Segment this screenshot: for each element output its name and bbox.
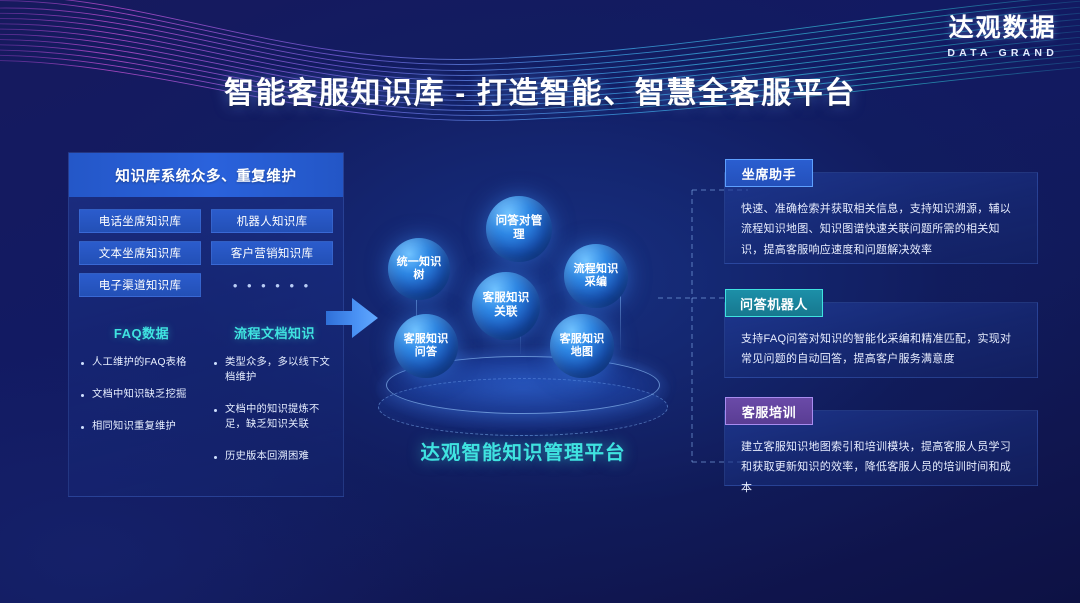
knowledge-orb-label: 客服知识地图: [550, 333, 614, 359]
list-item: 文档中的知识提炼不足，缺乏知识关联: [212, 403, 337, 433]
knowledge-base-chip-grid: 电话坐席知识库机器人知识库文本坐席知识库客户营销知识库电子渠道知识库• • • …: [69, 209, 343, 297]
page-title: 智能客服知识库 - 打造智能、智慧全客服平台: [0, 68, 1080, 112]
list-item: 类型众多，多以线下文档维护: [212, 356, 337, 386]
knowledge-base-chip[interactable]: 机器人知识库: [211, 209, 333, 233]
knowledge-orb[interactable]: 客服知识地图: [550, 314, 614, 378]
left-panel-columns: FAQ数据人工维护的FAQ表格文档中知识缺乏挖掘相同知识重复维护流程文档知识类型…: [69, 323, 343, 482]
feature-card-tab[interactable]: 问答机器人: [725, 289, 823, 317]
knowledge-base-chip[interactable]: 文本坐席知识库: [79, 241, 201, 265]
left-panel-header: 知识库系统众多、重复维护: [69, 153, 343, 197]
knowledge-base-chip[interactable]: 电话坐席知识库: [79, 209, 201, 233]
knowledge-orb[interactable]: 客服知识问答: [394, 314, 458, 378]
knowledge-orb[interactable]: 流程知识采编: [564, 244, 628, 308]
knowledge-base-chip[interactable]: 客户营销知识库: [211, 241, 333, 265]
knowledge-orb-label: 客服知识问答: [394, 333, 458, 359]
feature-card-body: 快速、准确检索并获取相关信息，支持知识溯源，辅以流程知识地图、知识图谱快速关联问…: [725, 173, 1037, 276]
list-item: 历史版本回溯困难: [212, 450, 337, 465]
column-title: 流程文档知识: [212, 323, 337, 342]
knowledge-orb-label: 客服知识关联: [472, 292, 540, 320]
feature-card[interactable]: 坐席助手 快速、准确检索并获取相关信息，支持知识溯源，辅以流程知识地图、知识图谱…: [724, 172, 1038, 264]
knowledge-orb-label: 统一知识树: [388, 256, 450, 282]
knowledge-base-chip[interactable]: 电子渠道知识库: [79, 273, 201, 297]
brand-logo-cn: 达观数据: [947, 16, 1058, 41]
left-panel: 知识库系统众多、重复维护 电话坐席知识库机器人知识库文本坐席知识库客户营销知识库…: [68, 152, 344, 497]
knowledge-orb[interactable]: 统一知识树: [388, 238, 450, 300]
knowledge-orb[interactable]: 客服知识关联: [472, 272, 540, 340]
feature-card-tab[interactable]: 客服培训: [725, 397, 813, 425]
brand-logo: 达观数据 DATA GRAND: [947, 16, 1058, 59]
feature-card[interactable]: 问答机器人 支持FAQ问答对知识的智能化采编和精准匹配，实现对常见问题的自动回答…: [724, 302, 1038, 378]
column-bullet-list: 人工维护的FAQ表格文档中知识缺乏挖掘相同知识重复维护: [79, 356, 204, 435]
left-panel-column: 流程文档知识类型众多，多以线下文档维护文档中的知识提炼不足，缺乏知识关联历史版本…: [212, 323, 337, 482]
knowledge-base-chip[interactable]: • • • • • •: [211, 273, 333, 297]
left-panel-column: FAQ数据人工维护的FAQ表格文档中知识缺乏挖掘相同知识重复维护: [79, 323, 204, 482]
feature-card-tab[interactable]: 坐席助手: [725, 159, 813, 187]
center-stage: 问答对管理统一知识树流程知识采编客服知识关联客服知识问答客服知识地图: [368, 176, 678, 466]
platform-label: 达观智能知识管理平台: [368, 436, 678, 465]
column-bullet-list: 类型众多，多以线下文档维护文档中的知识提炼不足，缺乏知识关联历史版本回溯困难: [212, 356, 337, 465]
column-title: FAQ数据: [79, 323, 204, 342]
feature-card[interactable]: 客服培训 建立客服知识地图索引和培训模块，提高客服人员学习和获取更新知识的效率，…: [724, 410, 1038, 486]
orb-stem: [620, 292, 621, 350]
knowledge-orb[interactable]: 问答对管理: [486, 196, 552, 262]
slide-canvas: 达观数据 DATA GRAND 智能客服知识库 - 打造智能、智慧全客服平台 知…: [0, 0, 1080, 603]
brand-logo-en: DATA GRAND: [947, 48, 1058, 59]
knowledge-orb-label: 问答对管理: [486, 215, 552, 243]
list-item: 人工维护的FAQ表格: [79, 356, 204, 371]
knowledge-orb-label: 流程知识采编: [564, 263, 628, 289]
list-item: 文档中知识缺乏挖掘: [79, 388, 204, 403]
list-item: 相同知识重复维护: [79, 420, 204, 435]
feature-card-body: 建立客服知识地图索引和培训模块，提高客服人员学习和获取更新知识的效率，降低客服人…: [725, 411, 1037, 514]
